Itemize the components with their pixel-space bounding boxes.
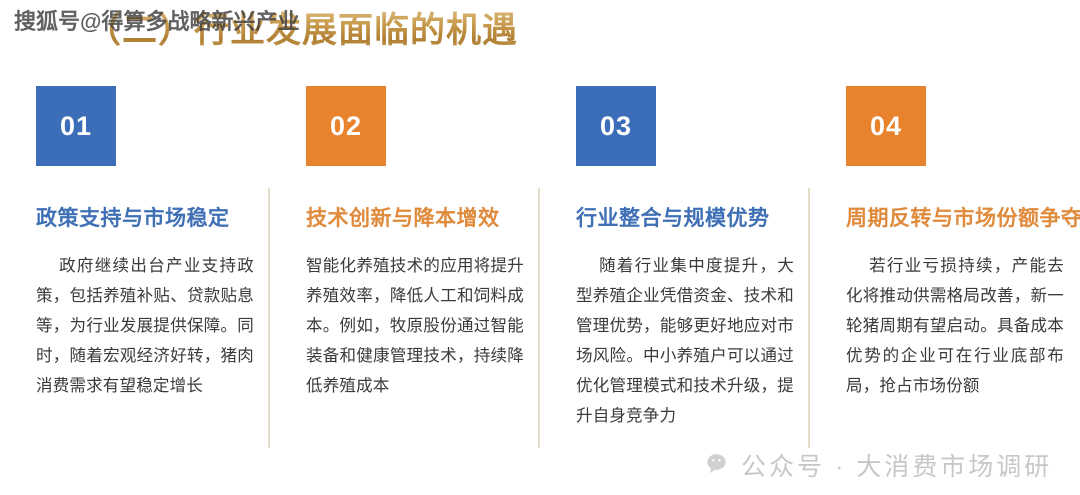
column-02: 02 技术创新与降本增效 智能化养殖技术的应用将提升养殖效率，降低人工和饲料成本…: [270, 78, 540, 495]
column-body-04: 若行业亏损持续，产能去化将推动供需格局改善，新一轮猪周期有望启动。具备成本优势的…: [846, 251, 1064, 401]
column-body-02: 智能化养殖技术的应用将提升养殖效率，降低人工和饲料成本。例如，牧原股份通过智能装…: [306, 251, 524, 401]
column-heading-04: 周期反转与市场份额争夺: [846, 206, 1056, 232]
watermark-bottom: 公众号 · 大消费市场调研: [706, 447, 1052, 483]
column-heading-01: 政策支持与市场稳定: [36, 206, 246, 232]
number-badge-02: 02: [306, 86, 386, 166]
column-03: 03 行业整合与规模优势 随着行业集中度提升，大型养殖企业凭借资金、技术和管理优…: [540, 78, 810, 495]
column-body-03: 随着行业集中度提升，大型养殖企业凭借资金、技术和管理优势，能够更好地应对市场风险…: [576, 251, 794, 431]
number-badge-04: 04: [846, 86, 926, 166]
number-badge-03: 03: [576, 86, 656, 166]
column-body-01: 政府继续出台产业支持政策，包括养殖补贴、贷款贴息等，为行业发展提供保障。同时，随…: [36, 251, 254, 401]
wechat-icon: [706, 452, 732, 478]
column-heading-02: 技术创新与降本增效: [306, 206, 516, 232]
column-heading-03: 行业整合与规模优势: [576, 206, 786, 232]
number-badge-01: 01: [36, 86, 116, 166]
column-01: 01 政策支持与市场稳定 政府继续出台产业支持政策，包括养殖补贴、贷款贴息等，为…: [0, 78, 270, 495]
watermark-top: 搜狐号@得算多战略新兴产业: [14, 8, 299, 36]
columns-container: 01 政策支持与市场稳定 政府继续出台产业支持政策，包括养殖补贴、贷款贴息等，为…: [0, 78, 1080, 495]
slide-canvas: （二）行业发展面临的机遇 搜狐号@得算多战略新兴产业 01 政策支持与市场稳定 …: [0, 0, 1080, 495]
column-04: 04 周期反转与市场份额争夺 若行业亏损持续，产能去化将推动供需格局改善，新一轮…: [810, 78, 1080, 495]
watermark-bottom-text: 公众号 · 大消费市场调研: [741, 447, 1052, 483]
